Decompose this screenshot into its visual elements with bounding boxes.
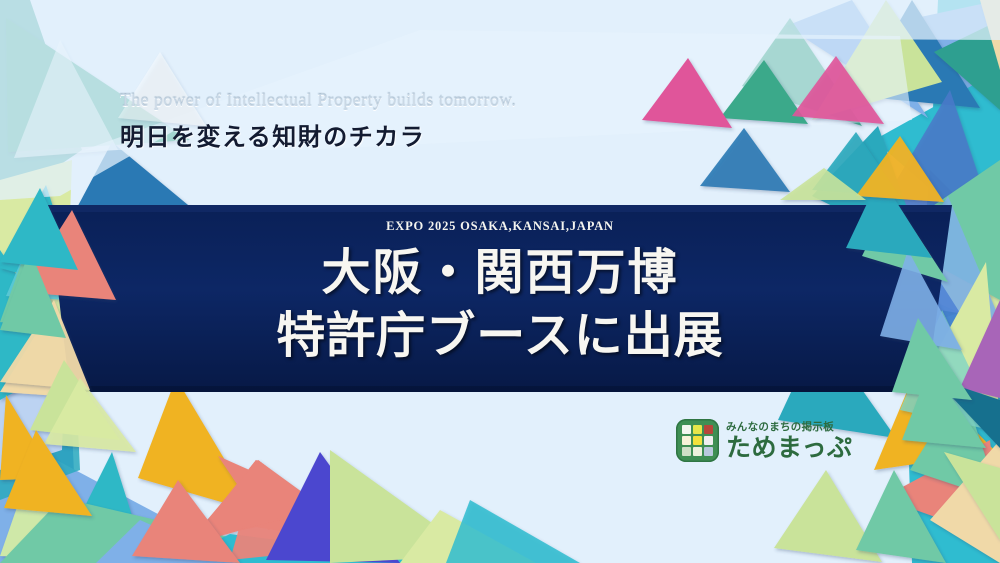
- tamemap-bulletin-board-icon: [676, 419, 719, 462]
- navy-headline-banner: [48, 205, 952, 392]
- logo-tile-4: [682, 436, 691, 445]
- logo-tile-9: [704, 447, 713, 456]
- promo-banner-canvas: The power of Intellectual Property build…: [0, 0, 1000, 563]
- logo-tile-6: [704, 436, 713, 445]
- logo-text-group: みんなのまちの掲示板 ためまっぷ: [726, 419, 853, 461]
- logo-tile-grid: [682, 425, 713, 456]
- tagline-japanese: 明日を変える知財のチカラ: [120, 117, 740, 152]
- logo-wordmark: ためまっぷ: [726, 435, 853, 461]
- logo-subtitle: みんなのまちの掲示板: [726, 419, 853, 434]
- decorative-triangle-background: [0, 0, 1000, 563]
- tagline-english: The power of Intellectual Property build…: [120, 90, 740, 112]
- tagline-block: The power of Intellectual Property build…: [120, 90, 740, 152]
- logo-tile-8: [693, 447, 702, 456]
- logo-tile-5: [693, 436, 702, 445]
- logo-tile-3: [704, 425, 713, 434]
- tamemap-logo[interactable]: みんなのまちの掲示板 ためまっぷ: [676, 419, 853, 462]
- logo-tile-1: [682, 425, 691, 434]
- logo-tile-7: [682, 447, 691, 456]
- logo-tile-2: [693, 425, 702, 434]
